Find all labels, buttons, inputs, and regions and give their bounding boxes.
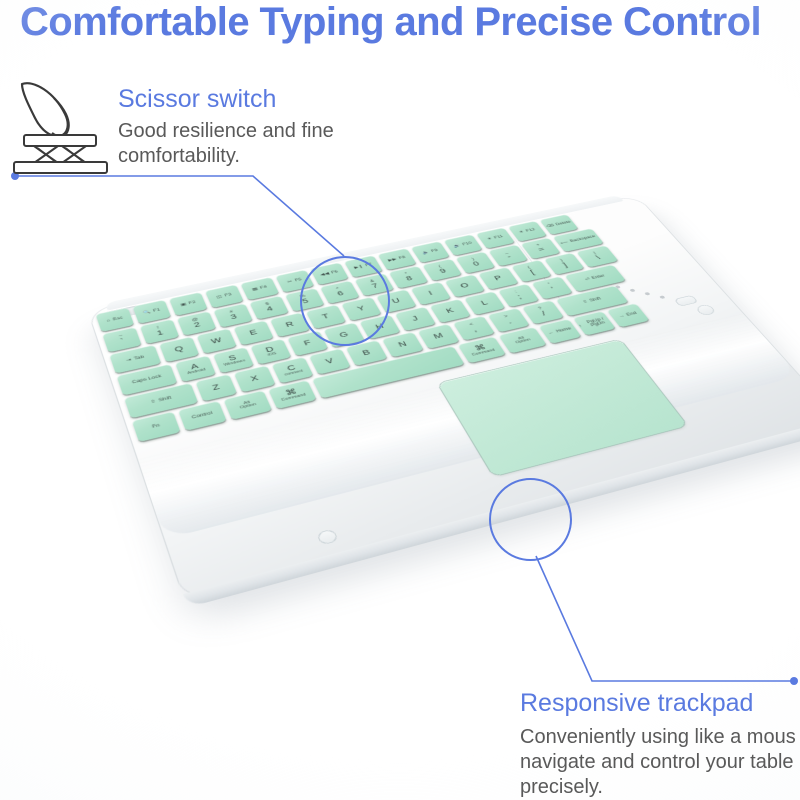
key-primary-label: M	[432, 332, 444, 340]
key-label: F9	[431, 249, 439, 253]
key-primary-label: I	[427, 290, 434, 296]
key-primary-label: 1	[156, 330, 164, 337]
scissor-legs	[34, 146, 86, 163]
keycap-plate	[24, 135, 96, 146]
key-label: Home	[555, 327, 572, 334]
key-primary-label: V	[324, 357, 335, 365]
base-plate	[14, 162, 107, 173]
next-track-icon: ▶▶	[388, 258, 398, 263]
search-icon: 🔍	[143, 310, 152, 315]
key-primary-label: U	[391, 297, 402, 304]
key-primary-label: ;	[516, 294, 523, 300]
volume-down-icon: 🔈	[422, 251, 431, 255]
key-primary-label: \	[595, 255, 602, 261]
key-primary-label: 0	[472, 261, 481, 268]
key-primary-label: 4	[266, 306, 275, 313]
key-label: F5	[294, 278, 302, 283]
key-secondary-label: ~	[118, 334, 123, 338]
key-primary-label: L	[480, 299, 490, 306]
key-tertiary-label: Option	[515, 338, 531, 344]
grid-icon: ▦	[252, 287, 259, 291]
key-primary-label: `	[120, 338, 126, 345]
key-label: F4	[260, 285, 268, 290]
key-secondary-label: !	[157, 326, 160, 330]
key-secondary-label: ?	[538, 307, 543, 311]
key-primary-label: F	[303, 339, 313, 347]
key-primary-label: Q	[174, 345, 185, 353]
delete-icon: ⌫	[546, 224, 555, 228]
callout-body-scissor-switch: Good resilience and fine comfortability.	[118, 119, 334, 169]
key-primary-label: R	[285, 321, 296, 329]
key-label: F10	[462, 242, 473, 247]
key-primary-label: B	[361, 349, 372, 357]
key-label: F11	[494, 235, 505, 240]
home-icon: ⌂	[106, 319, 111, 323]
key-secondary-label: "	[548, 283, 552, 287]
brightness-down-icon: ☀	[487, 237, 494, 241]
fingertip-shape	[22, 83, 68, 136]
tab-icon: ⇥	[126, 358, 132, 363]
key-secondary-label: _	[503, 251, 508, 255]
callout-body-responsive-trackpad: Conveniently using like a mous navigate …	[520, 725, 796, 800]
backspace-icon: ⟵	[560, 241, 570, 246]
key-primary-label: '	[550, 286, 556, 292]
key-primary-label: .	[506, 318, 513, 325]
infographic-canvas: Comfortable Typing and Precise Control	[0, 0, 800, 800]
callout-heading-responsive-trackpad: Responsive trackpad	[520, 690, 753, 718]
key-primary-label: P	[493, 275, 503, 282]
key-primary-label: =	[537, 247, 547, 254]
key-os-label: iOS	[267, 352, 277, 357]
highlight-circle-trackpad	[489, 478, 572, 561]
highlight-circle-keys	[300, 256, 390, 346]
cut-icon: ✂	[287, 280, 293, 284]
key-label: End	[626, 311, 638, 317]
key-primary-label: O	[459, 282, 470, 289]
key-label: Tab	[134, 355, 145, 361]
key-label: Esc	[112, 316, 123, 321]
key-label: Enter	[591, 274, 606, 280]
enter-icon: ⏎	[584, 278, 591, 282]
key-label: Backspace	[569, 235, 596, 243]
key-secondary-label: $	[265, 302, 270, 306]
callout-heading-scissor-switch: Scissor switch	[118, 86, 276, 114]
key-secondary-label: #	[229, 310, 234, 314]
key-primary-label: W	[210, 337, 223, 345]
left-arrow-icon: ←	[547, 331, 555, 336]
key-label: F8	[398, 256, 406, 260]
key-label: F12	[525, 228, 536, 233]
key-label: F2	[188, 301, 196, 306]
key-secondary-label: >	[504, 315, 510, 319]
key-primary-label: 8	[405, 275, 414, 282]
key-primary-label: ]	[562, 262, 569, 268]
scissor-switch-icon	[8, 78, 113, 176]
keyboard-device: ⌂Esc🔍F1▣F2◫F3▦F4✂F5◀◀F6▶❙F7▶▶F8🔈F9🔊F10☀F…	[88, 195, 800, 602]
window-icon: ◫	[216, 295, 223, 299]
key-primary-label: -	[506, 254, 513, 260]
key-label: PgUp / PgDn	[582, 316, 612, 329]
key-primary-label: 2	[193, 321, 202, 328]
key-primary-label: ,	[471, 326, 478, 333]
key-primary-label: K	[445, 307, 456, 314]
brightness-up-icon: ☀	[518, 230, 525, 234]
key-primary-label: 9	[439, 268, 448, 275]
right-arrow-icon: →	[618, 314, 626, 319]
key-primary-label: /	[540, 311, 547, 318]
shift-icon: ⇧	[582, 300, 589, 304]
key-label: F3	[224, 293, 232, 298]
key-primary-label: E	[248, 329, 258, 337]
key-label: Delete	[555, 220, 572, 226]
volume-up-icon: 🔊	[453, 244, 462, 248]
key-label: F1	[153, 308, 161, 313]
key-secondary-label: <	[469, 323, 475, 327]
key-primary-label: [	[529, 269, 536, 275]
keyboard-icon: ▣	[180, 303, 187, 307]
key-primary-label: J	[411, 315, 420, 322]
key-primary-label: 3	[230, 314, 239, 321]
key-primary-label: N	[397, 340, 408, 348]
key-label: Shift	[589, 297, 602, 303]
